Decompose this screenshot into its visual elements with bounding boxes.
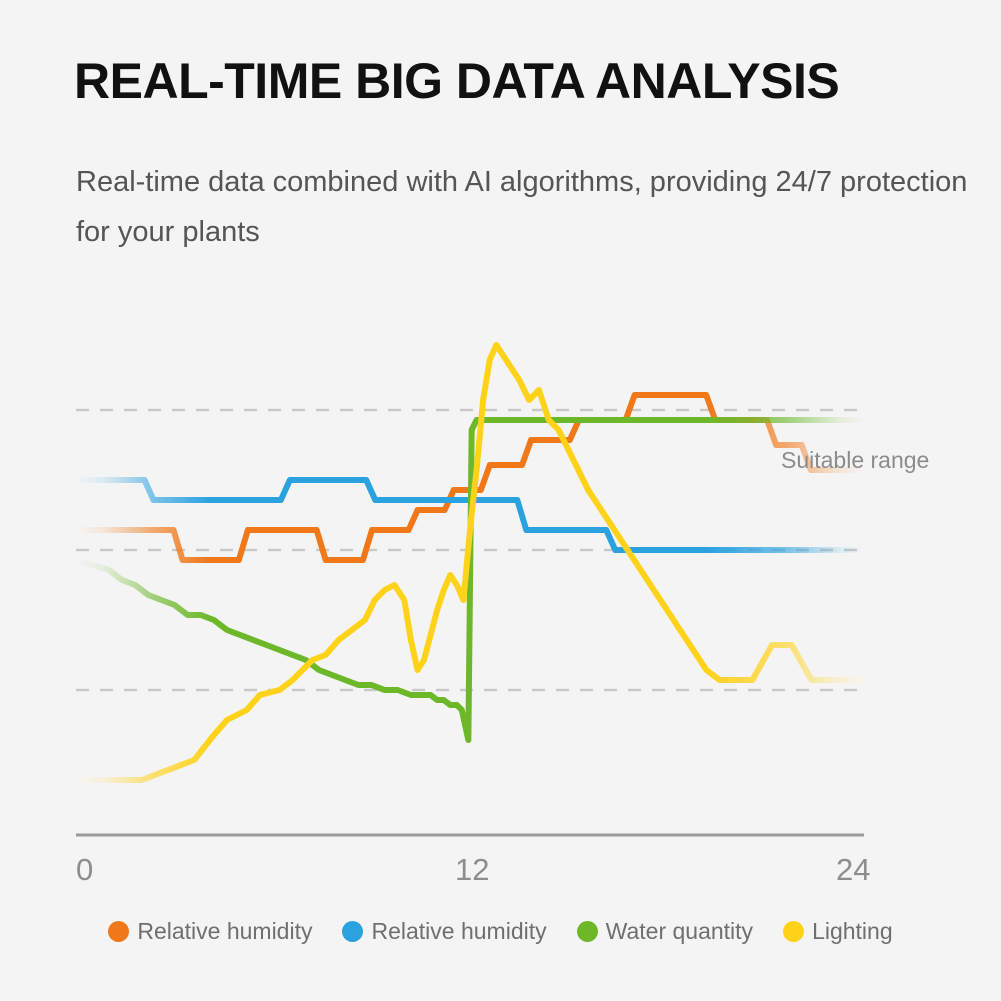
legend-swatch-icon: [783, 921, 804, 942]
legend-item-label: Relative humidity: [137, 918, 312, 945]
legend-item-0[interactable]: Relative humidity: [108, 918, 312, 945]
page-root: REAL-TIME BIG DATA ANALYSIS Real-time da…: [0, 0, 1001, 1001]
legend-swatch-icon: [342, 921, 363, 942]
legend-swatch-icon: [577, 921, 598, 942]
page-subtitle: Real-time data combined with AI algorith…: [76, 158, 976, 258]
chart-legend: Relative humidityRelative humidityWater …: [0, 918, 1001, 945]
legend-swatch-icon: [108, 921, 129, 942]
series-line-water-quantity-2: [76, 420, 864, 740]
page-title: REAL-TIME BIG DATA ANALYSIS: [74, 54, 839, 109]
legend-item-label: Lighting: [812, 918, 893, 945]
suitable-range-label: Suitable range: [781, 447, 929, 474]
realtime-line-chart: [0, 300, 1001, 860]
x-tick-0: 0: [76, 852, 93, 888]
chart-container: [0, 300, 1001, 860]
legend-item-label: Relative humidity: [371, 918, 546, 945]
legend-item-label: Water quantity: [606, 918, 753, 945]
legend-item-1[interactable]: Relative humidity: [342, 918, 546, 945]
legend-item-2[interactable]: Water quantity: [577, 918, 753, 945]
x-tick-12: 12: [455, 852, 489, 888]
legend-item-3[interactable]: Lighting: [783, 918, 893, 945]
x-tick-24: 24: [836, 852, 870, 888]
